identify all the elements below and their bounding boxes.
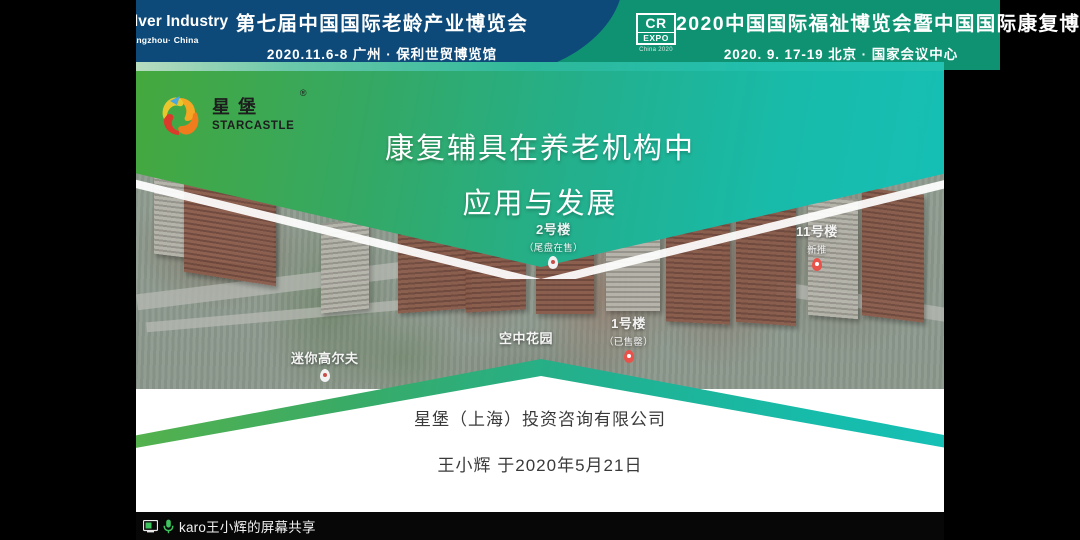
left-event-subtitle: 2020.11.6-8 广州 · 保利世贸博览馆 (212, 43, 552, 63)
screen-share-icon (143, 520, 158, 533)
conference-banner: Silver Industry Guangzhou· China 第七届中国国际… (62, 0, 1080, 70)
map-label-sub: 新推 (796, 242, 838, 256)
slide-title: 康复辅具在养老机构中 应用与发展 (136, 125, 944, 222)
map-label-building-11: 11号楼 新推 (796, 221, 838, 271)
screen-share-status-bar[interactable]: karo王小辉的屏幕共享 (136, 512, 944, 540)
company-name: 星堡（上海）投资咨询有限公司 (136, 405, 944, 430)
slide-title-line2: 应用与发展 (136, 180, 944, 222)
right-letterbox (944, 71, 1080, 540)
banner-accent-strip (136, 62, 944, 71)
right-event-title-block: 2020中国国际福祉博览会暨中国国际康复博览会 2020. 9. 17-19 北… (676, 7, 1006, 63)
cr-expo-logo-box: CR EXPO (636, 13, 676, 45)
map-pin-icon (320, 369, 330, 382)
right-event-subtitle: 2020. 9. 17-19 北京 · 国家会议中心 (676, 43, 1006, 63)
cr-expo-logo-sub: China 2020 (636, 47, 676, 53)
map-label-sky-garden: 空中花园 (499, 328, 553, 347)
cr-expo-logo-top: CR (638, 16, 674, 30)
right-event-title: 2020中国国际福祉博览会暨中国国际康复博览会 (676, 7, 1006, 36)
slide-title-line1: 康复辅具在养老机构中 (136, 125, 944, 167)
screen-share-viewer: Silver Industry Guangzhou· China 第七届中国国际… (0, 0, 1080, 540)
cr-expo-logo-bottom: EXPO (638, 32, 674, 43)
map-label-building-1: 1号楼 （已售罄） (604, 313, 653, 363)
map-label-name: 11号楼 (796, 221, 838, 240)
map-label-sub: （尾盘在售） (524, 240, 583, 254)
map-label-mini-golf: 迷你高尔夫 (291, 348, 359, 382)
left-letterbox (0, 0, 136, 540)
left-event-title-block: 第七届中国国际老龄产业博览会 2020.11.6-8 广州 · 保利世贸博览馆 (212, 7, 552, 63)
microphone-icon (163, 519, 174, 534)
shared-slide[interactable]: 星堡 ® STARCASTLE 康复辅具在养老机构中 应用与发展 2号楼 （尾盘… (136, 71, 944, 512)
map-label-name: 1号楼 (604, 313, 653, 332)
map-pin-icon (624, 350, 634, 363)
map-pin-icon (812, 258, 822, 271)
map-pin-icon (548, 256, 558, 269)
map-label-sub: （已售罄） (604, 334, 653, 348)
share-status-text: karo王小辉的屏幕共享 (179, 516, 316, 536)
slide-footer: 星堡（上海）投资咨询有限公司 王小辉 于2020年5月21日 (136, 405, 944, 476)
starcastle-cn: 星堡 (212, 97, 264, 117)
map-label-building-2: 2号楼 （尾盘在售） (524, 219, 583, 269)
cr-expo-logo: CR EXPO China 2020 (636, 13, 676, 53)
banner-right-mask (1000, 0, 1080, 70)
registered-mark: ® (300, 89, 307, 98)
map-label-name: 迷你高尔夫 (291, 348, 359, 367)
presenter-and-date: 王小辉 于2020年5月21日 (136, 451, 944, 476)
map-label-name: 空中花园 (499, 328, 553, 347)
left-event-title: 第七届中国国际老龄产业博览会 (212, 7, 552, 36)
